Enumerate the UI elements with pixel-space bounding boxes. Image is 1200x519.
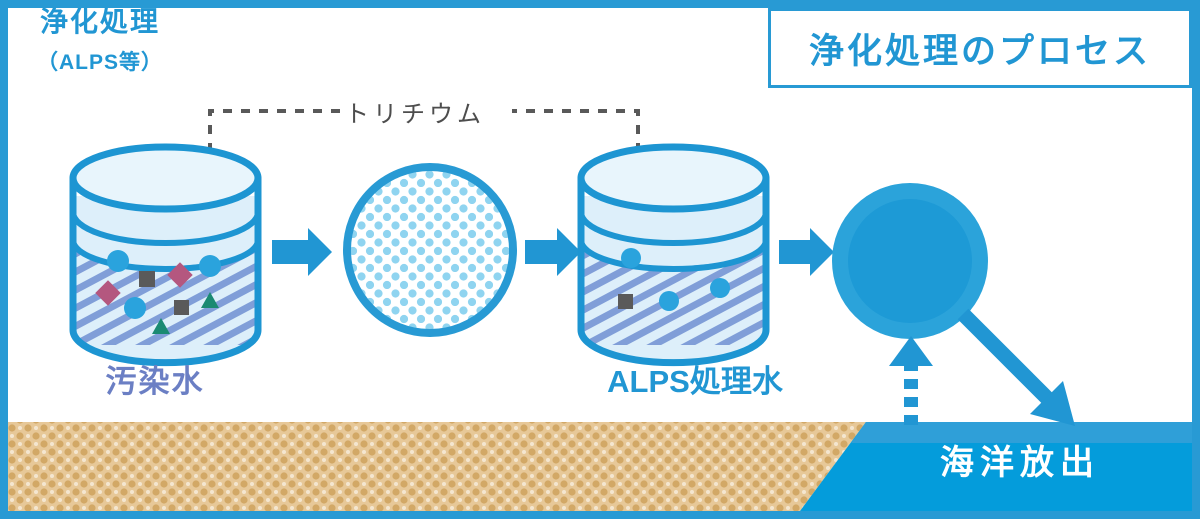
flow-arrow-3 [779,228,834,276]
flow-arrow-1 [272,228,332,276]
label-contaminated-water: 汚染水 [0,366,310,397]
flow-arrow-2 [525,228,581,276]
title-box: 浄化処理のプロセス [768,8,1192,88]
discharge-arrow [963,314,1075,426]
ground-layer [8,422,866,511]
label-ocean-release: 海洋放出 [940,446,1100,480]
label-alps-treated-water: ALPS処理水 [540,366,850,397]
seawater-intake-arrow [889,336,933,425]
beaker-alps-treated-water [568,147,780,363]
purification-circle [347,167,513,333]
page-title: 浄化処理のプロセス [809,23,1151,74]
infographic-canvas: 浄化処理のプロセス トリチウム 浄化処理 （ALPS等） 海水で 大幅希釈 汚染… [0,0,1200,519]
tritium-label: トリチウム [345,103,485,127]
